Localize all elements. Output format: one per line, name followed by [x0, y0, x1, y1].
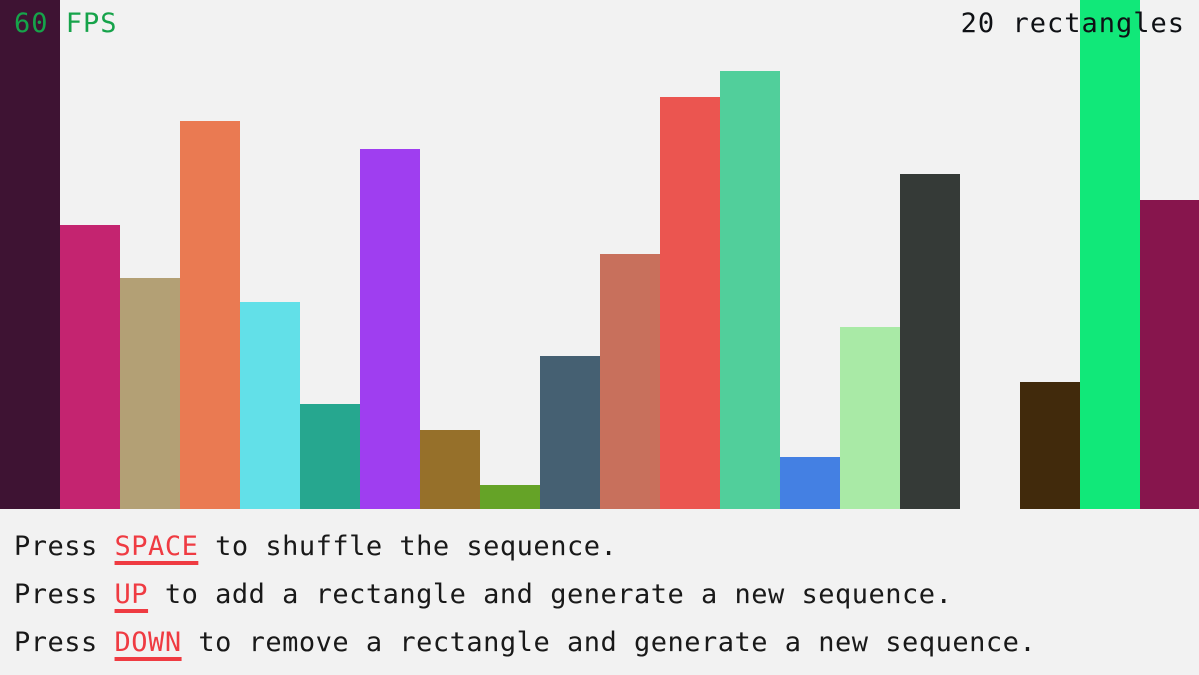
- bar-rectangle: [1140, 200, 1199, 509]
- instructions-panel: Press SPACE to shuffle the sequence.Pres…: [0, 509, 1199, 675]
- instruction-line: Press UP to add a rectangle and generate…: [14, 571, 1199, 619]
- key-space[interactable]: SPACE: [115, 531, 199, 562]
- key-up[interactable]: UP: [115, 579, 149, 610]
- instruction-suffix: to add a rectangle and generate a new se…: [148, 579, 952, 610]
- bar-rectangle: [720, 71, 780, 509]
- instruction-prefix: Press: [14, 531, 115, 562]
- bar-rectangle: [180, 121, 240, 509]
- bar-rectangle: [480, 485, 540, 509]
- bar-rectangle: [1020, 382, 1080, 509]
- rectangle-count-label: 20 rectangles: [961, 8, 1185, 39]
- fps-counter: 60 FPS: [14, 8, 118, 39]
- instruction-suffix: to remove a rectangle and generate a new…: [182, 627, 1037, 658]
- bar-rectangle: [60, 225, 120, 509]
- bar-rectangle: [840, 327, 900, 509]
- bar-rectangle: [300, 404, 360, 509]
- bar-rectangle: [780, 457, 840, 509]
- bar-rectangle: [600, 254, 660, 509]
- rectangle-sequence-app: 60 FPS 20 rectangles Press SPACE to shuf…: [0, 0, 1199, 675]
- bar-rectangle: [660, 97, 720, 509]
- key-down[interactable]: DOWN: [115, 627, 182, 658]
- instruction-prefix: Press: [14, 627, 115, 658]
- instruction-line: Press DOWN to remove a rectangle and gen…: [14, 619, 1199, 667]
- bar-rectangle: [420, 430, 480, 509]
- instruction-suffix: to shuffle the sequence.: [198, 531, 617, 562]
- bar-rectangle: [240, 302, 300, 509]
- bar-rectangle: [120, 278, 180, 509]
- bar-rectangle: [1080, 0, 1140, 509]
- bar-rectangle: [0, 0, 60, 509]
- bar-rectangle: [360, 149, 420, 509]
- bar-rectangle: [540, 356, 600, 509]
- bar-chart: [0, 0, 1199, 509]
- instruction-prefix: Press: [14, 579, 115, 610]
- instruction-line: Press SPACE to shuffle the sequence.: [14, 523, 1199, 571]
- bar-rectangle: [900, 174, 960, 509]
